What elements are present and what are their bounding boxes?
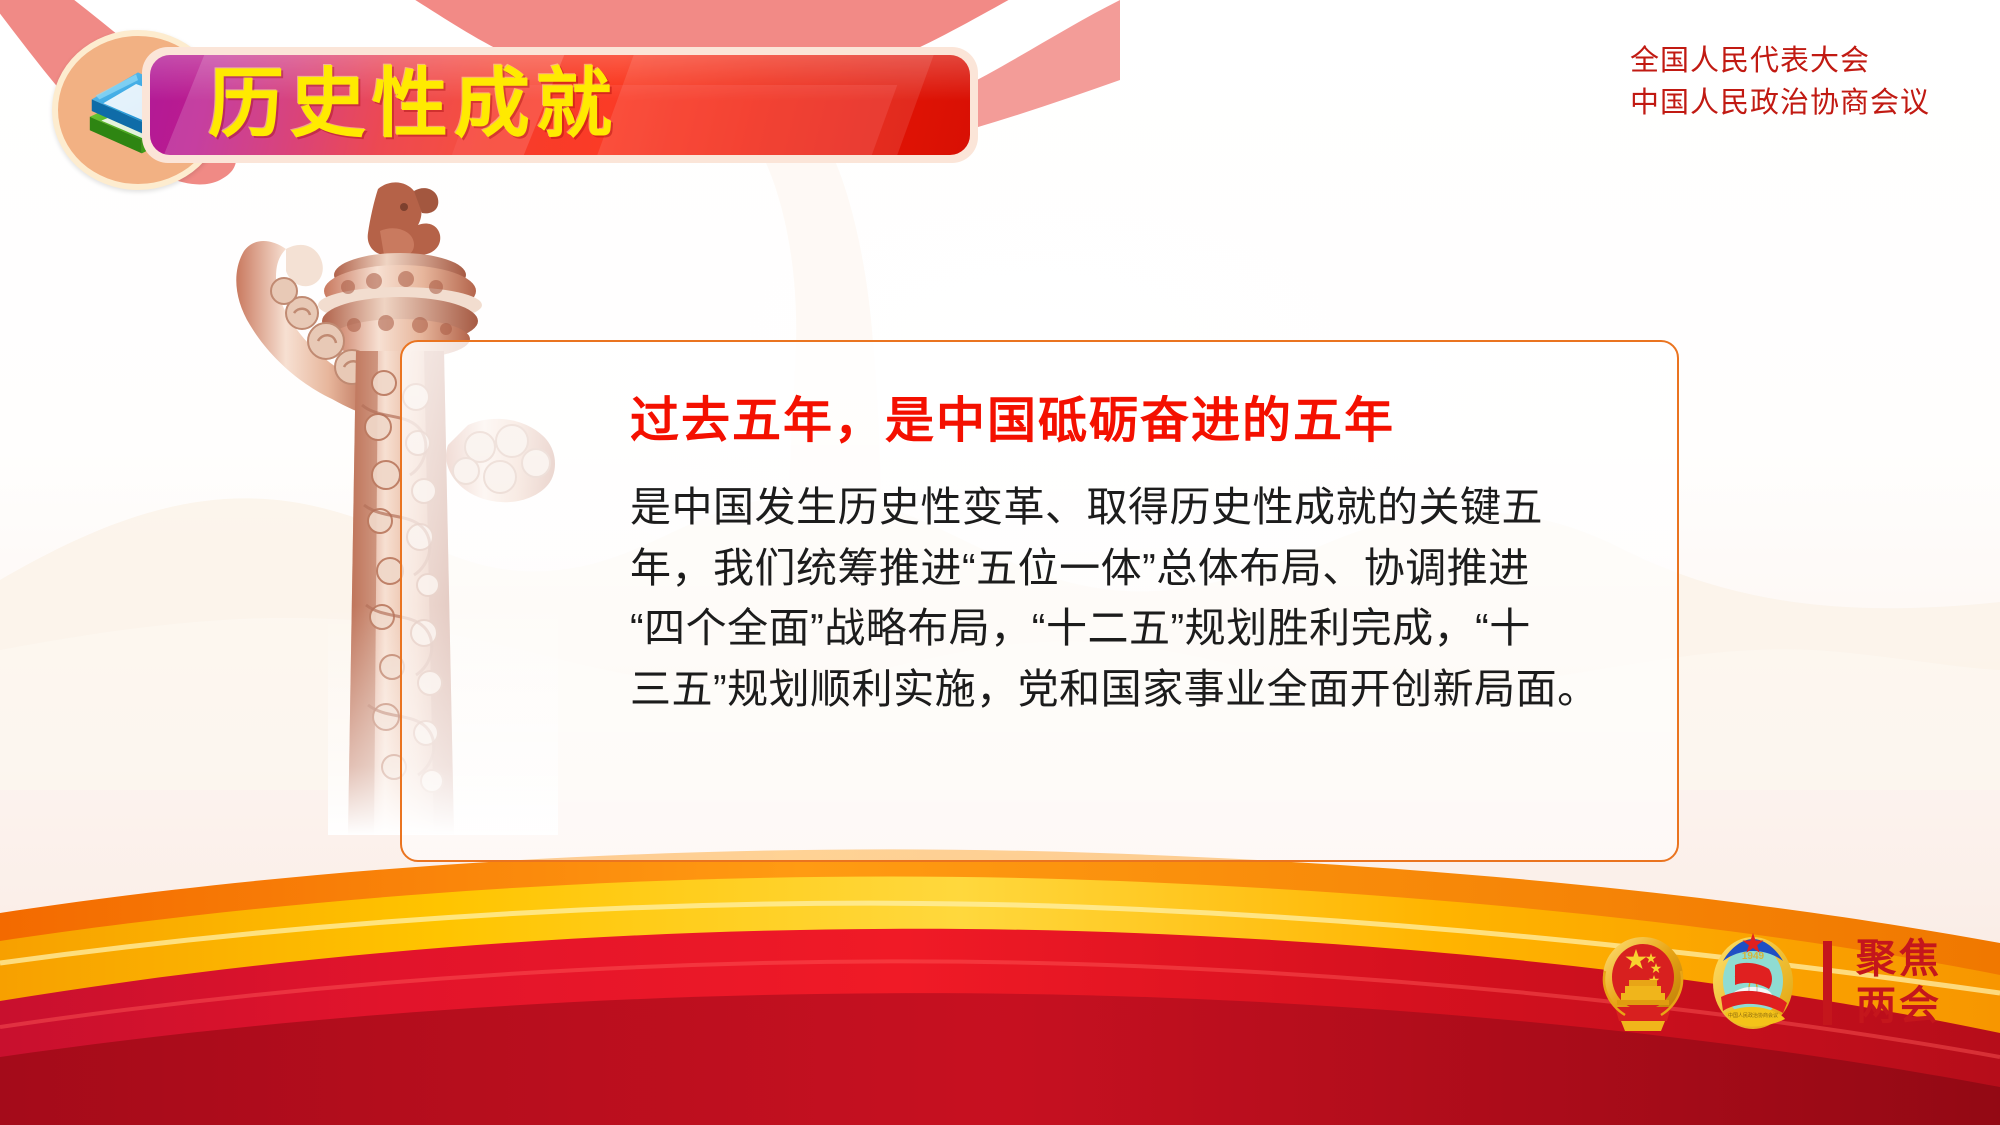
content-text-block: 过去五年，是中国砥砺奋进的五年 是中国发生历史性变革、取得历史性成就的关键五 年… [630, 395, 1640, 720]
logo-divider-bar [1823, 941, 1832, 1025]
banner-title-text: 历史性成就 [208, 67, 618, 143]
banner-highlight-c [579, 55, 941, 155]
national-emblem-of-china-icon [1595, 931, 1691, 1035]
content-body: 是中国发生历史性变革、取得历史性成就的关键五 年，我们统筹推进“五位一体”总体布… [630, 477, 1640, 720]
org-line-1: 全国人民代表大会 [1630, 40, 1930, 82]
content-heading: 过去五年，是中国砥砺奋进的五年 [630, 395, 1640, 449]
org-line-2: 中国人民政治协商会议 [1630, 82, 1930, 124]
cppcc-emblem-icon: 1949 中国人民政治协商会议 [1705, 931, 1801, 1035]
logo-word-line-2: 两会 [1856, 983, 1942, 1030]
title-banner: 历史性成就 [150, 55, 970, 155]
logo-word-line-1: 聚焦 [1856, 936, 1942, 983]
logo-wordmark: 聚焦 两会 [1856, 936, 1942, 1030]
cppcc-year-text: 1949 [1742, 951, 1765, 962]
body-line-3: “四个全面”战略布局，“十二五”规划胜利完成，“十 [630, 598, 1640, 659]
body-line-4: 三五”规划顺利实施，党和国家事业全面开创新局面。 [630, 659, 1640, 720]
organisation-names: 全国人民代表大会 中国人民政治协商会议 [1630, 40, 1930, 124]
body-line-2: 年，我们统筹推进“五位一体”总体布局、协调推进 [630, 538, 1640, 599]
slide-root: 历史性成就 全国人民代表大会 中国人民政治协商会议 过去五年，是中国砥砺奋进的五… [0, 0, 2000, 1125]
cppcc-caption: 中国人民政治协商会议 [1728, 1012, 1778, 1019]
footer-logo-lockup: 1949 中国人民政治协商会议 聚焦 两会 [1595, 931, 1942, 1035]
body-line-1: 是中国发生历史性变革、取得历史性成就的关键五 [630, 477, 1640, 538]
